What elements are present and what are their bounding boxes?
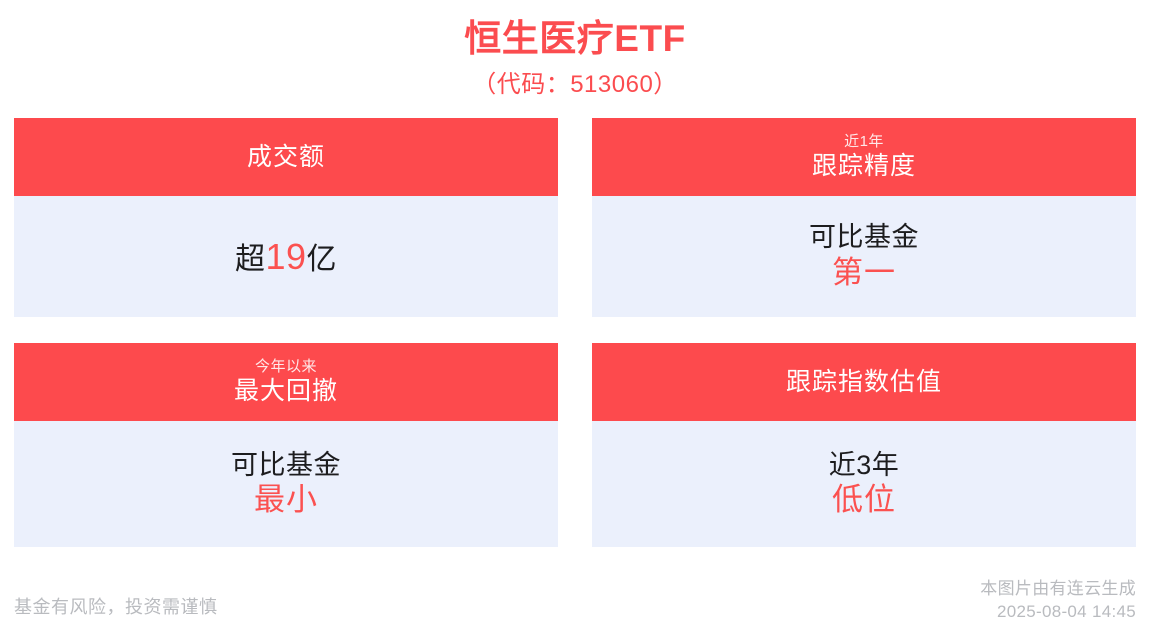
credit-source: 本图片由有连云生成	[980, 578, 1136, 601]
card-header-prefix: 近1年	[844, 134, 884, 151]
page-footer: 基金有风险，投资需谨慎 本图片由有连云生成 2025-08-04 14:45	[0, 576, 1150, 624]
metric-value-line1: 可比基金	[809, 223, 919, 253]
metric-value-unit: 亿	[307, 243, 338, 276]
metric-card-turnover: 成交额 超19亿	[14, 118, 558, 317]
metric-card-index-valuation: 跟踪指数估值 近3年 低位	[592, 343, 1136, 547]
metric-value-line2: 第一	[832, 256, 896, 290]
generation-credit: 本图片由有连云生成 2025-08-04 14:45	[980, 578, 1136, 624]
card-header-label: 最大回撤	[234, 377, 338, 405]
metric-card-grid: 成交额 超19亿 近1年 跟踪精度 可比基金 第一 今年以来 最大回撤 可比基金…	[14, 118, 1136, 547]
card-header-index-valuation: 跟踪指数估值	[592, 343, 1136, 421]
metric-card-max-drawdown: 今年以来 最大回撤 可比基金 最小	[14, 343, 558, 547]
card-body-turnover: 超19亿	[14, 196, 558, 317]
metric-value-line1: 近3年	[829, 451, 900, 481]
card-header-turnover: 成交额	[14, 118, 558, 196]
card-body-max-drawdown: 可比基金 最小	[14, 421, 558, 547]
card-header-label: 成交额	[247, 143, 325, 171]
card-header-max-drawdown: 今年以来 最大回撤	[14, 343, 558, 421]
page-header: 恒生医疗ETF （代码：513060）	[0, 0, 1150, 98]
page-title: 恒生医疗ETF	[0, 18, 1150, 61]
metric-value-number: 19	[265, 236, 306, 277]
metric-value-line2: 最小	[254, 483, 318, 517]
card-header-prefix: 今年以来	[255, 359, 317, 376]
page-subtitle-code: （代码：513060）	[0, 71, 1150, 99]
card-header-tracking-accuracy: 近1年 跟踪精度	[592, 118, 1136, 196]
card-body-tracking-accuracy: 可比基金 第一	[592, 196, 1136, 317]
risk-disclaimer: 基金有风险，投资需谨慎	[14, 593, 218, 624]
metric-value-line1: 可比基金	[231, 451, 341, 481]
card-header-label: 跟踪指数估值	[786, 368, 942, 396]
metric-value-prefix: 超	[235, 243, 266, 276]
credit-timestamp: 2025-08-04 14:45	[980, 601, 1136, 624]
card-header-label: 跟踪精度	[812, 152, 916, 180]
metric-value-line2: 低位	[832, 483, 896, 517]
metric-card-tracking-accuracy: 近1年 跟踪精度 可比基金 第一	[592, 118, 1136, 317]
metric-value-inline: 超19亿	[235, 237, 337, 277]
etf-summary-card-page: { "header": { "title": "恒生医疗ETF", "subti…	[0, 0, 1150, 632]
card-body-index-valuation: 近3年 低位	[592, 421, 1136, 547]
